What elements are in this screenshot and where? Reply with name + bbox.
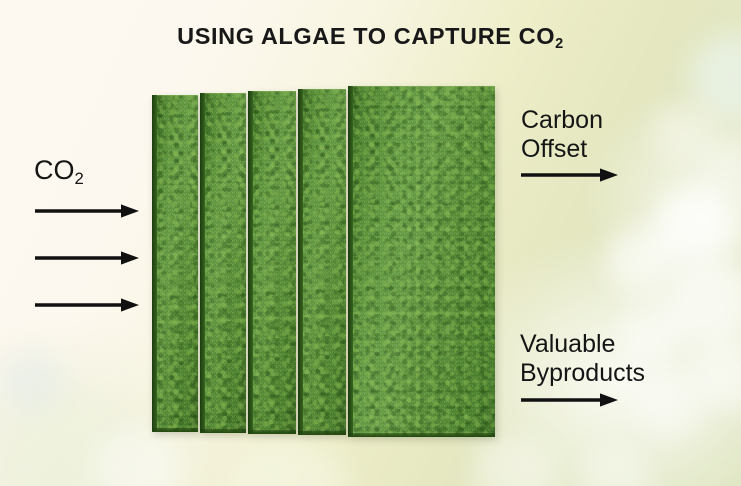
- carbon-offset-label: Carbon Offset: [521, 106, 603, 163]
- panel-shading: [298, 89, 346, 435]
- carbon-offset-line-2: Offset: [521, 135, 603, 164]
- co2-inflow-arrow-1: [35, 203, 139, 219]
- panel-bottom-edge: [200, 429, 246, 433]
- infographic-scene: USING ALGAE TO CAPTURE CO2: [0, 0, 741, 486]
- co2-input-label: CO2: [34, 155, 84, 186]
- page-title-subscript: 2: [555, 36, 564, 52]
- panel-shading: [152, 95, 198, 432]
- panel-top-edge: [298, 89, 346, 91]
- algae-panel-array: [0, 0, 741, 486]
- panel-shading: [200, 93, 246, 433]
- panel-top-edge: [152, 95, 198, 97]
- page-title: USING ALGAE TO CAPTURE CO2: [0, 23, 741, 50]
- co2-label-subscript: 2: [75, 169, 84, 188]
- valuable-byproducts-line-1: Valuable: [520, 330, 645, 359]
- panel-bottom-edge: [248, 430, 296, 434]
- panel-top-edge: [200, 93, 246, 95]
- valuable-byproducts-arrow: [521, 392, 618, 408]
- panel-left-edge: [248, 91, 253, 434]
- algae-panel: [348, 86, 495, 437]
- panel-bottom-edge: [152, 428, 198, 432]
- valuable-byproducts-label: Valuable Byproducts: [520, 330, 645, 387]
- algae-panel: [152, 95, 198, 432]
- co2-inflow-arrow-3: [35, 297, 139, 313]
- panel-left-edge: [298, 89, 303, 435]
- co2-inflow-arrow-2: [35, 250, 139, 266]
- panel-top-edge: [348, 86, 495, 88]
- co2-label-text: CO: [34, 155, 75, 185]
- algae-panel: [200, 93, 246, 433]
- carbon-offset-line-1: Carbon: [521, 106, 603, 135]
- page-title-text: USING ALGAE TO CAPTURE CO: [177, 23, 555, 49]
- panel-bottom-edge: [348, 433, 495, 437]
- panel-left-edge: [348, 86, 353, 437]
- valuable-byproducts-line-2: Byproducts: [520, 359, 645, 388]
- panel-shading: [348, 86, 495, 437]
- panel-top-edge: [248, 91, 296, 93]
- panel-left-edge: [200, 93, 205, 433]
- carbon-offset-arrow: [521, 167, 618, 183]
- panel-left-edge: [152, 95, 157, 432]
- algae-panel: [248, 91, 296, 434]
- panel-shading: [248, 91, 296, 434]
- panel-bottom-edge: [298, 431, 346, 435]
- algae-panel: [298, 89, 346, 435]
